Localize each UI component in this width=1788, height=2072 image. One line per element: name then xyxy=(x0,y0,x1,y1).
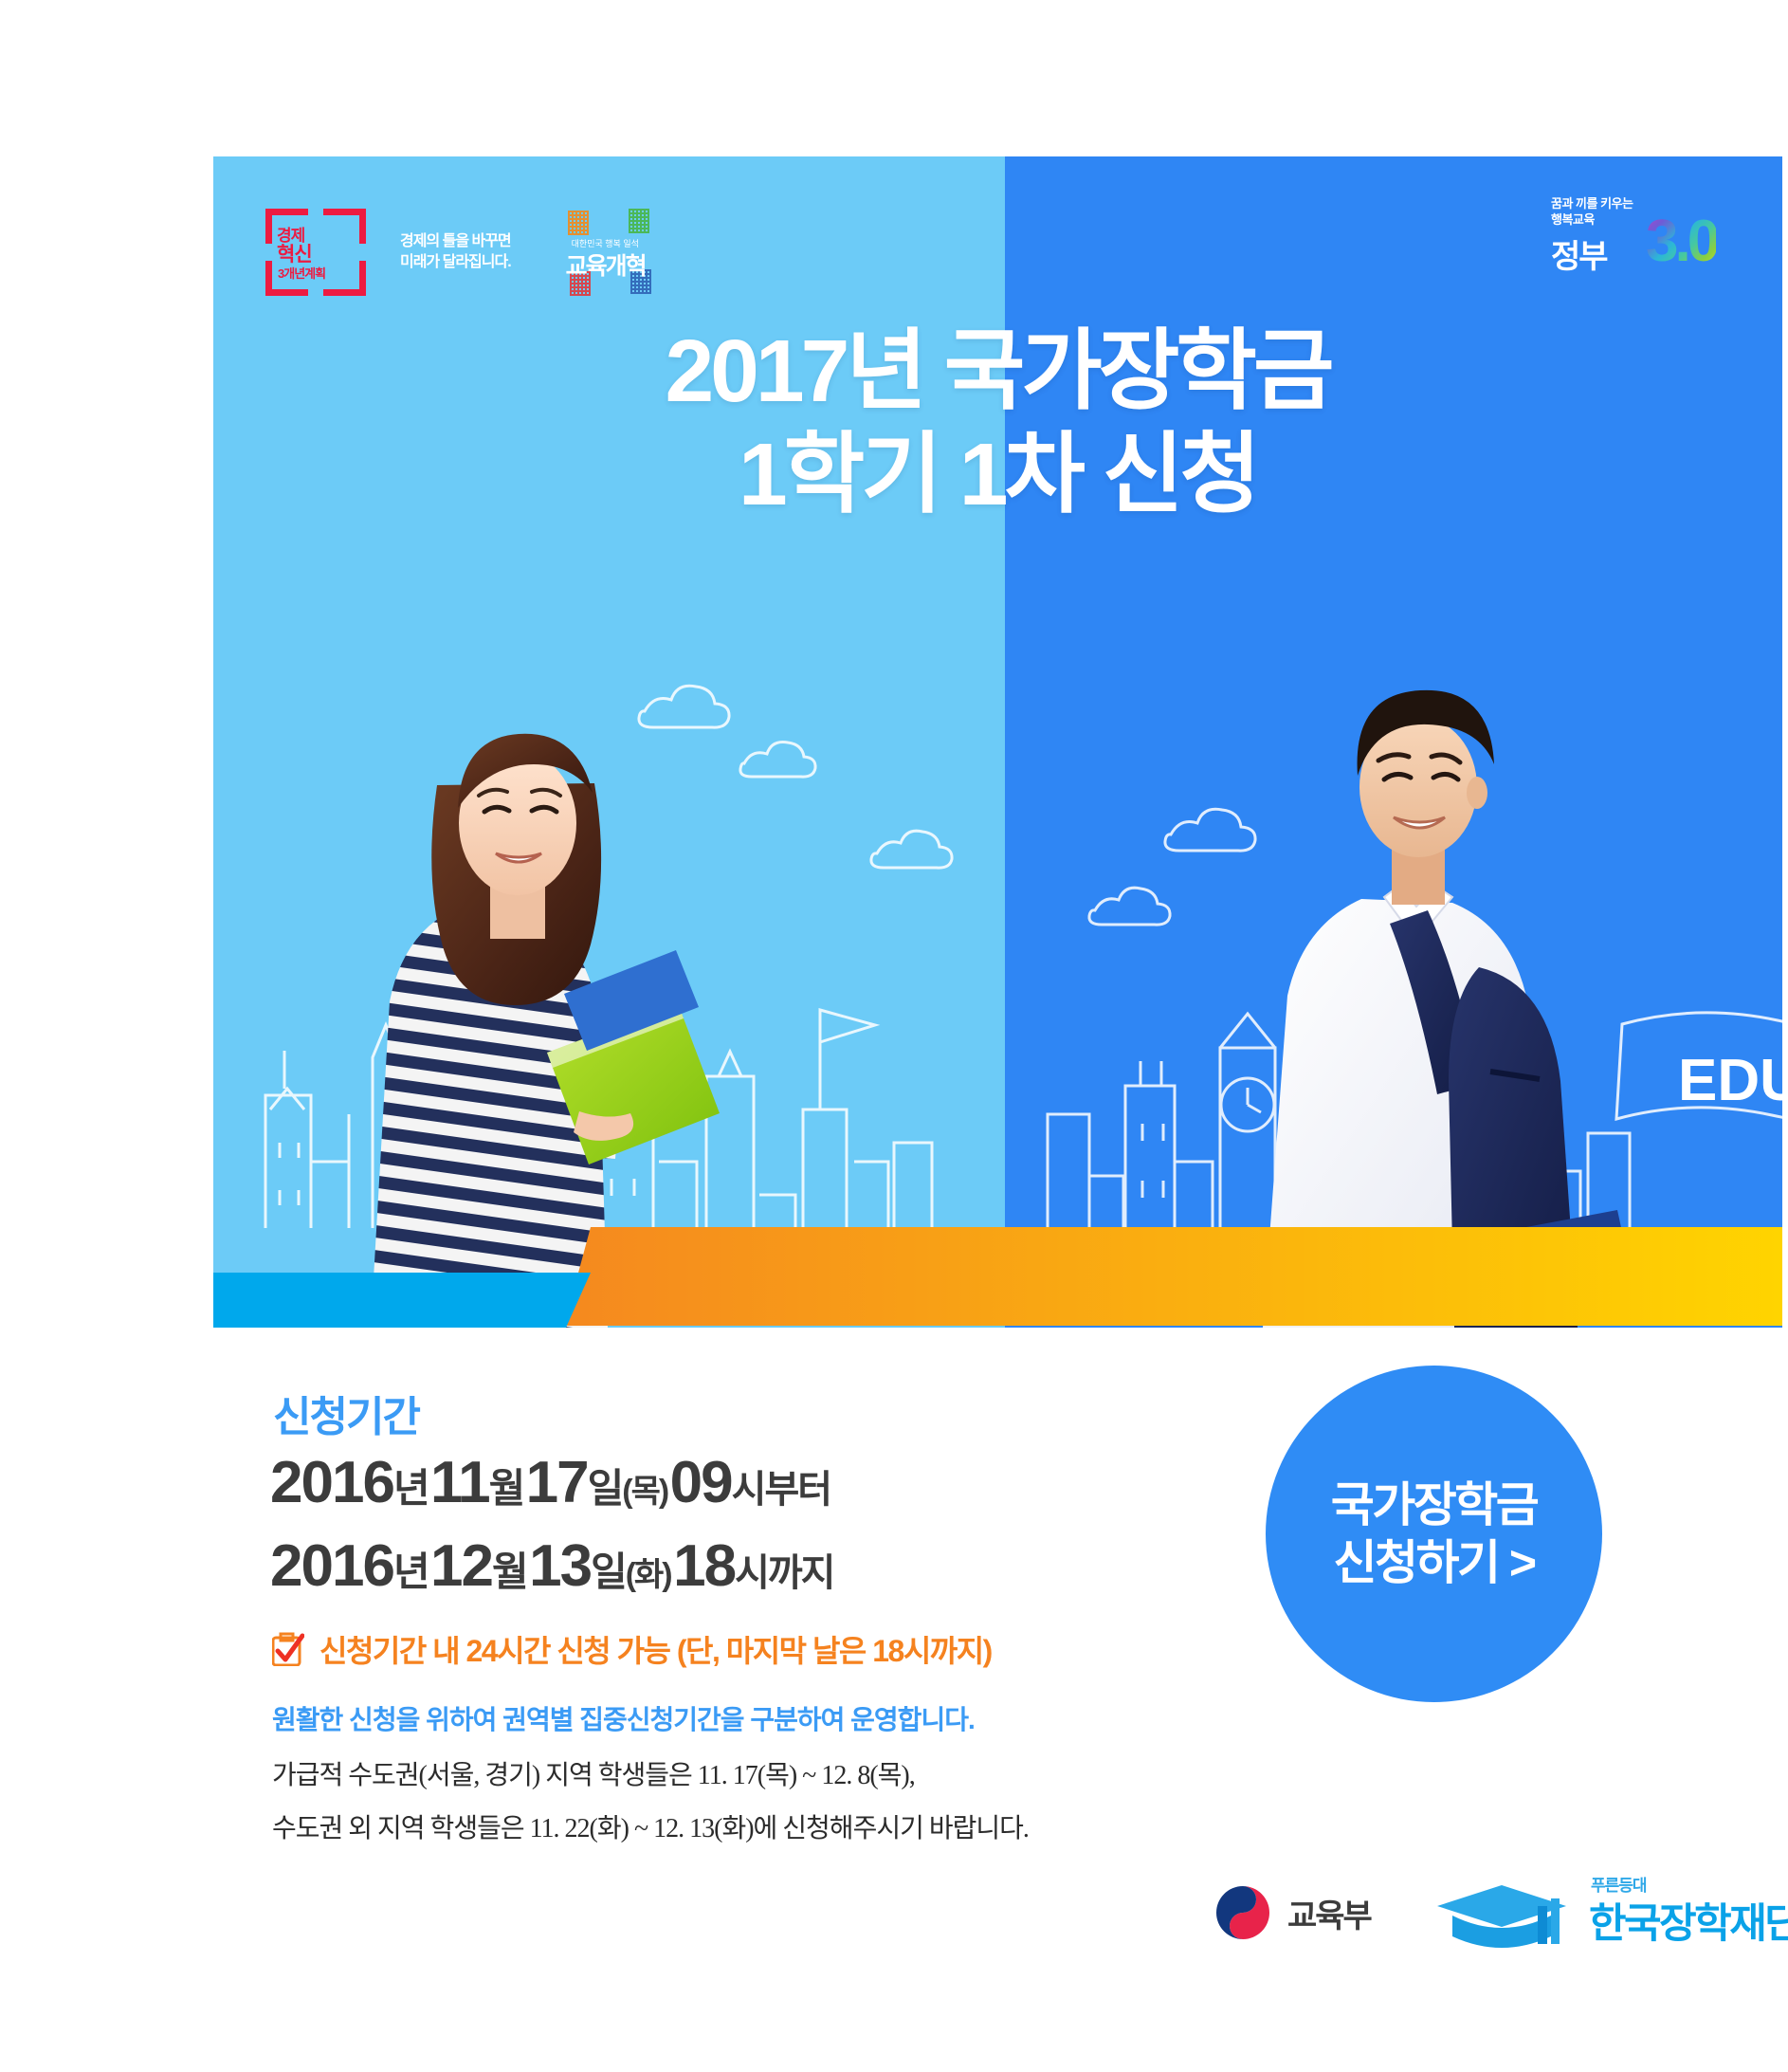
end-weekday: (화) xyxy=(626,1557,671,1593)
economic-reform-tagline: 경제의 틀을 바꾸면 미래가 달라집니다. xyxy=(400,231,511,272)
regional-notice-other: 수도권 외 지역 학생들은 11. 22(화) ~ 12. 13(화)에 신청해… xyxy=(272,1807,1029,1845)
poster-title-line1: 2017년 국가장학금 xyxy=(213,320,1782,423)
application-period-label: 신청기간 xyxy=(273,1383,419,1443)
application-end-date: 2016년 12월 13일(화) 18시까지 xyxy=(270,1532,833,1600)
start-hour-unit: 시부터 xyxy=(732,1469,830,1511)
end-year-unit: 년 xyxy=(393,1549,429,1594)
hero-banner: EDU 경제 혁신 3개년계획 경제의 틀을 바꾸면 미래가 달라집니다. 대한… xyxy=(213,156,1782,1328)
start-year-unit: 년 xyxy=(393,1466,429,1511)
start-month: 11 xyxy=(430,1450,489,1515)
kosaf-name: 한국장학재단 xyxy=(1589,1891,1788,1950)
start-hour: 09 xyxy=(670,1450,732,1515)
end-day-unit: 일 xyxy=(591,1549,626,1594)
poster-title: 2017년 국가장학금 1학기 1차 신청 xyxy=(213,320,1782,526)
education-reform-title: 교육개혁 xyxy=(566,248,646,282)
start-month-unit: 월 xyxy=(489,1466,524,1511)
pixel-block-green-icon xyxy=(629,209,649,233)
ministry-of-education-logo: 교육부 xyxy=(1213,1883,1371,1942)
start-weekday: (목) xyxy=(622,1474,667,1510)
start-day-unit: 일 xyxy=(588,1466,623,1511)
government-30-tagline: 꿈과 끼를 키우는 행복교육 xyxy=(1551,196,1633,229)
start-day: 17 xyxy=(526,1450,588,1515)
student-female-photo xyxy=(346,673,744,1328)
government-30-version: 3.0 xyxy=(1646,208,1716,275)
regional-notice-capital: 가급적 수도권(서울, 경기) 지역 학생들은 11. 17(목) ~ 12. … xyxy=(272,1754,915,1792)
cta-line2: 신청하기 > xyxy=(1333,1534,1534,1592)
footer-logos: 교육부 푸른등대 한국장학재단 xyxy=(213,1878,1782,2001)
graduation-cap-icon xyxy=(1432,1878,1574,1953)
poster: EDU 경제 혁신 3개년계획 경제의 틀을 바꾸면 미래가 달라집니다. 대한… xyxy=(213,156,1782,2053)
checkbox-checked-icon xyxy=(272,1632,304,1666)
education-reform-logo: 대한민국 행복 일석 교육개혁 xyxy=(562,209,653,296)
regional-notice-headline: 원활한 신청을 위하여 권역별 집중신청기간을 구분하여 운영합니다. xyxy=(272,1699,975,1737)
apply-scholarship-button[interactable]: 국가장학금 신청하기 > xyxy=(1266,1366,1602,1702)
economic-reform-line3: 3개년계획 xyxy=(278,264,325,282)
bracket-bottom-right-icon xyxy=(323,261,366,296)
taegeuk-icon xyxy=(1213,1883,1272,1942)
partner-logos: 경제 혁신 3개년계획 경제의 틀을 바꾸면 미래가 달라집니다. 대한민국 행… xyxy=(265,209,653,296)
student-male-photo xyxy=(1242,626,1650,1328)
economic-reform-logo: 경제 혁신 3개년계획 xyxy=(265,209,366,296)
kosaf-logo: 푸른등대 한국장학재단 xyxy=(1432,1878,1773,1959)
availability-note: 신청기간 내 24시간 신청 가능 (단, 마지막 날은 18시까지) xyxy=(272,1627,992,1671)
ministry-of-education-name: 교육부 xyxy=(1287,1890,1371,1936)
poster-title-line2: 1학기 1차 신청 xyxy=(213,423,1782,526)
end-hour-unit: 시까지 xyxy=(735,1552,833,1594)
end-year: 2016 xyxy=(270,1533,393,1599)
bracket-top-right-icon xyxy=(323,209,366,244)
availability-note-text: 신청기간 내 24시간 신청 가능 (단, 마지막 날은 18시까지) xyxy=(319,1627,992,1671)
end-hour: 18 xyxy=(673,1533,735,1599)
end-day: 13 xyxy=(529,1533,591,1599)
government-30-title: 정부 xyxy=(1551,230,1607,277)
end-month-unit: 월 xyxy=(492,1549,527,1594)
government-30-logo: 꿈과 끼를 키우는 행복교육 정부 3.0 xyxy=(1534,194,1714,284)
end-month: 12 xyxy=(430,1533,492,1599)
application-start-date: 2016년 11월 17일(목) 09시부터 xyxy=(270,1449,830,1516)
pixel-block-orange-icon xyxy=(568,211,589,235)
cta-line1: 국가장학금 xyxy=(1331,1476,1538,1534)
start-year: 2016 xyxy=(270,1450,393,1515)
